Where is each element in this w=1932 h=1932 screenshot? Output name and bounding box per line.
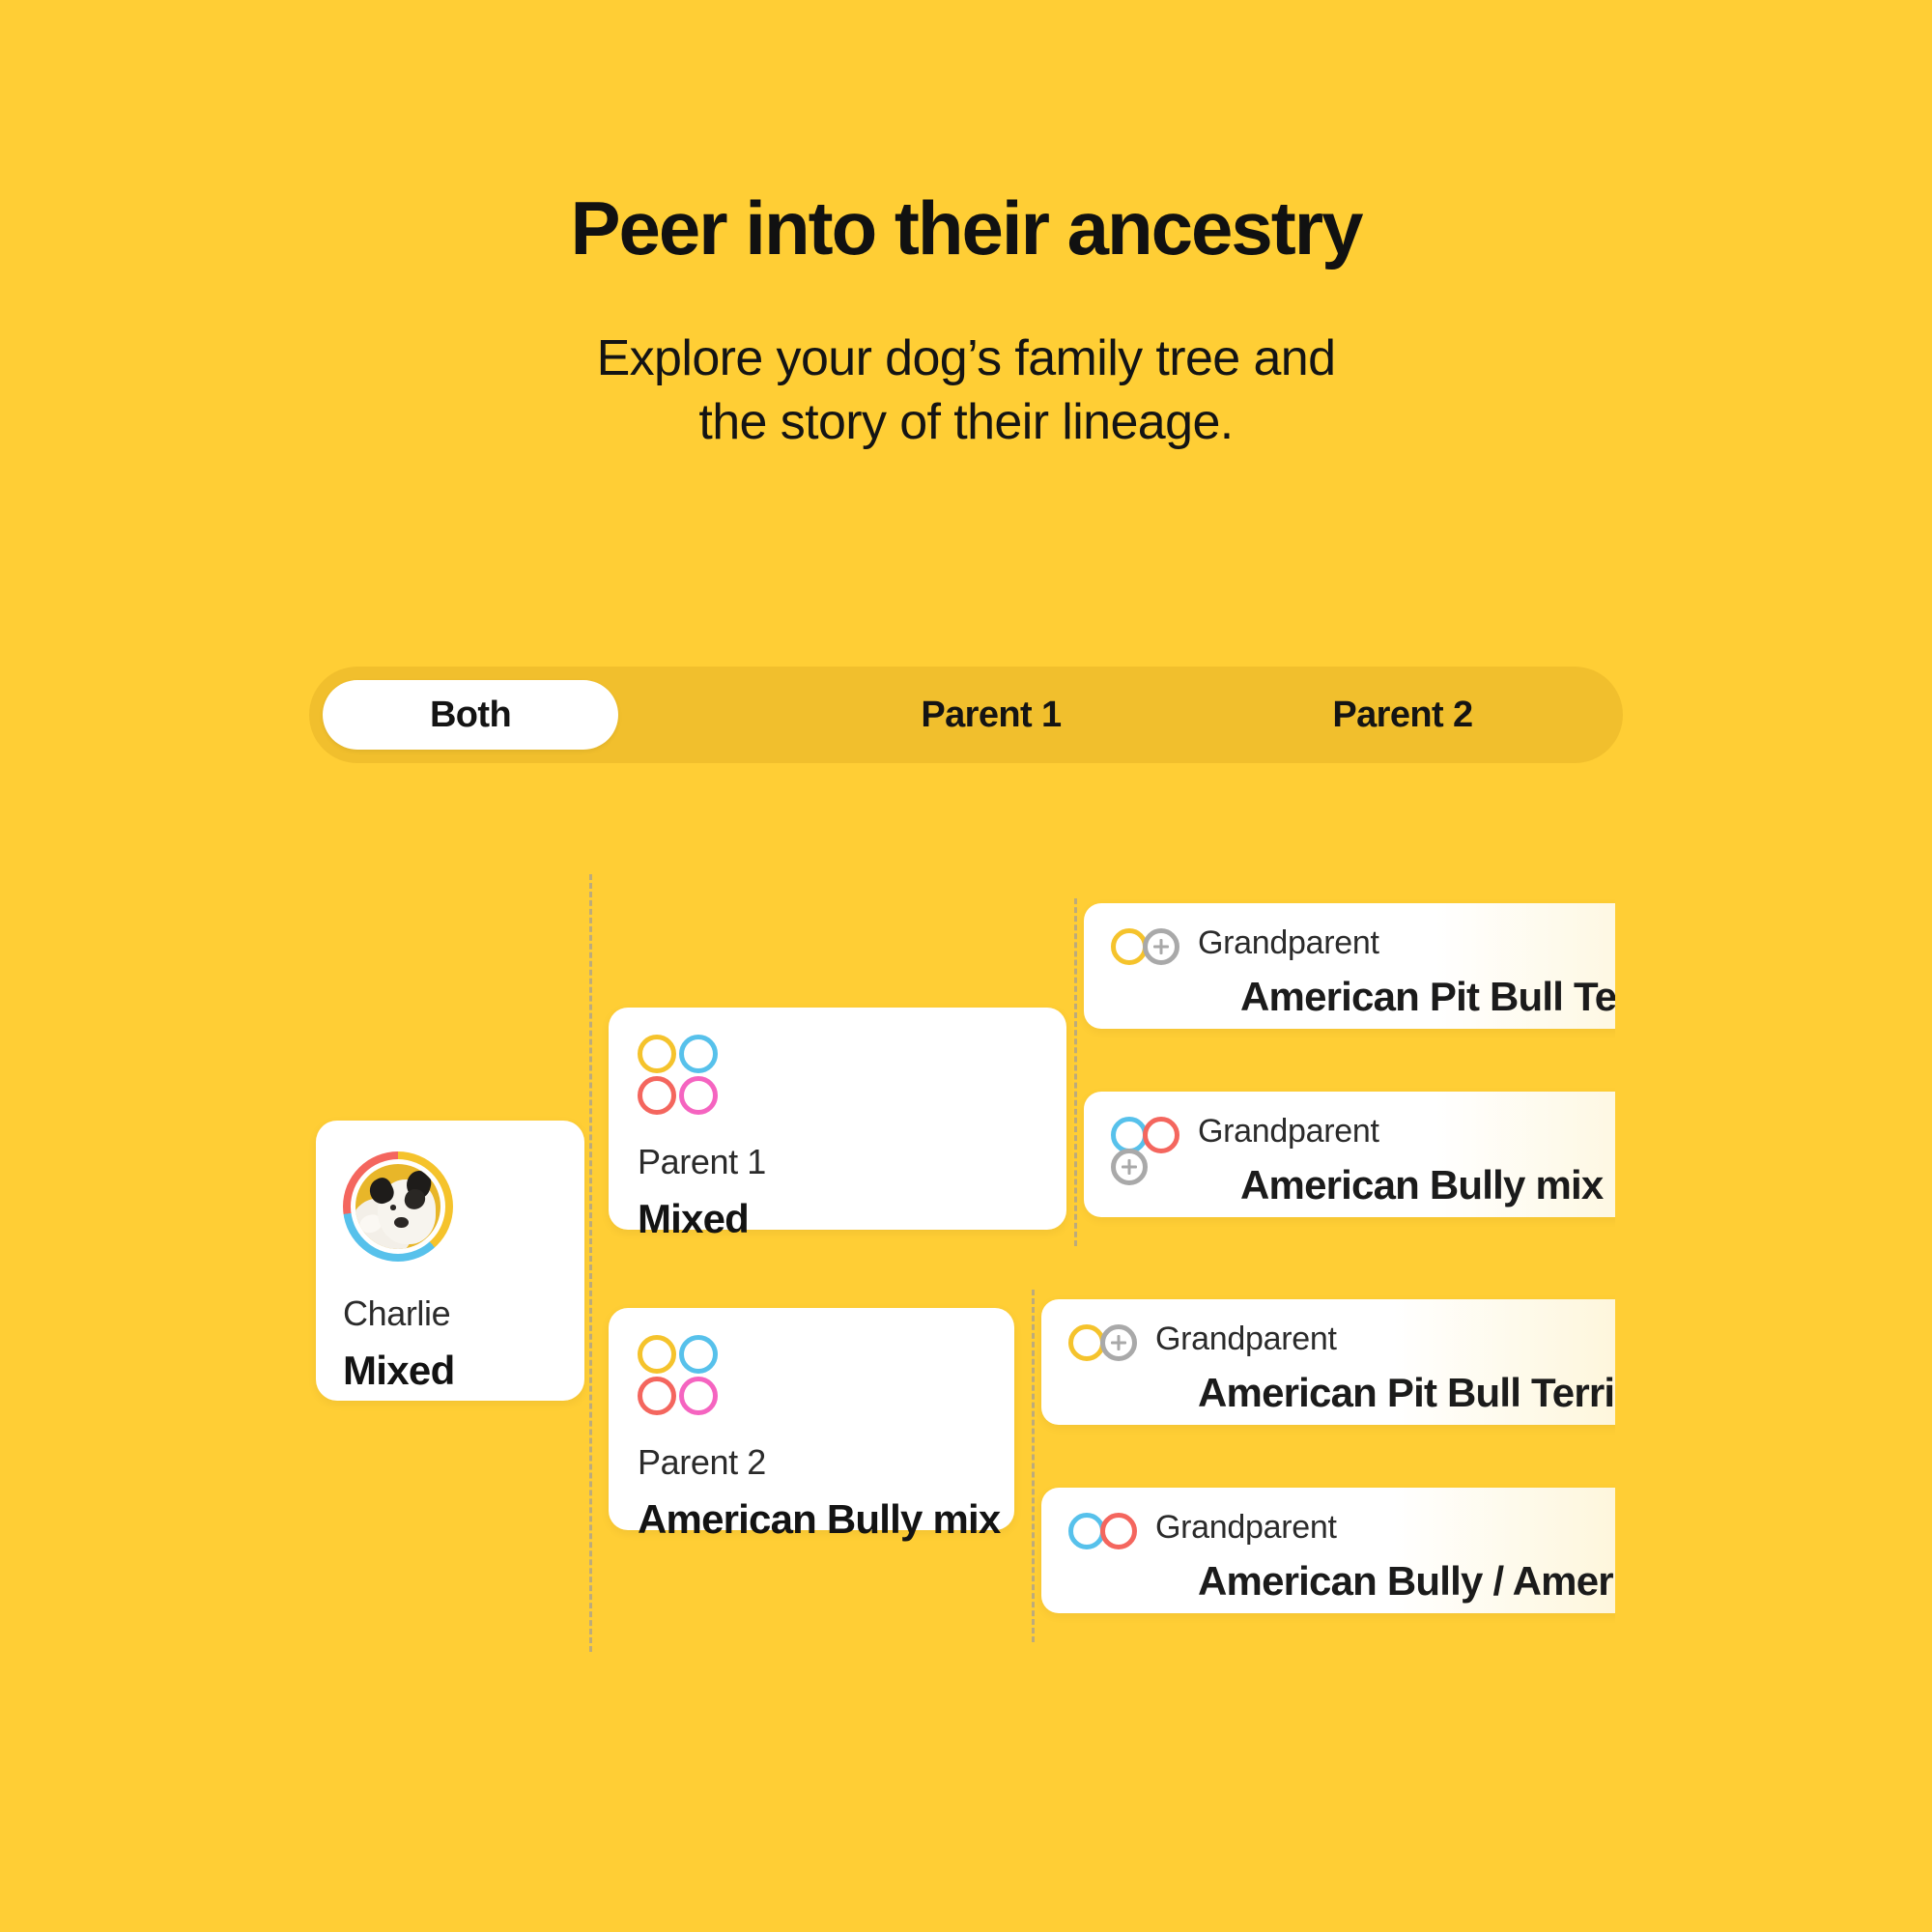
dot-red-icon	[1143, 1117, 1179, 1153]
grandparent-1-card[interactable]: Grandparent American Pit Bull Terrier	[1084, 903, 1615, 1029]
grandparent-2-label: Grandparent	[1198, 1115, 1603, 1148]
breed-dots-icon	[1111, 928, 1194, 1009]
grandparent-1-label: Grandparent	[1198, 926, 1615, 959]
dot-yellow-icon	[638, 1035, 676, 1073]
connector-line-focus-to-parents	[589, 874, 592, 1652]
dot-red-icon	[638, 1076, 676, 1115]
dot-yellow-icon	[638, 1335, 676, 1374]
focus-dog-name: Charlie	[343, 1296, 557, 1331]
breed-dots-icon	[1068, 1324, 1151, 1406]
breed-dots-icon	[638, 1335, 721, 1418]
dot-pink-icon	[679, 1377, 718, 1415]
parent-1-card[interactable]: Parent 1 Mixed	[609, 1008, 1066, 1230]
grandparent-column: Grandparent American Pit Bull Terrier Gr…	[1024, 869, 1615, 1662]
grandparent-4-card[interactable]: Grandparent American Bully / American Pi…	[1041, 1488, 1615, 1613]
grandparent-3-card[interactable]: Grandparent American Pit Bull Terrier	[1041, 1299, 1615, 1425]
plus-circle-icon	[1111, 1149, 1148, 1185]
plus-circle-icon	[1100, 1324, 1137, 1361]
focus-dog-card[interactable]: Charlie Mixed	[316, 1121, 584, 1401]
breed-dots-icon	[1111, 1117, 1194, 1198]
grandparent-3-label: Grandparent	[1155, 1322, 1615, 1355]
grandparent-2-breed: American Bully mix	[1240, 1165, 1603, 1206]
parent-2-breed: American Bully mix	[638, 1499, 985, 1540]
grandparent-4-breed: American Bully / American Pit Bull Terri…	[1198, 1561, 1615, 1602]
breed-dots-icon	[1068, 1513, 1151, 1594]
grandparent-2-card[interactable]: Grandparent American Bully mix	[1084, 1092, 1615, 1217]
grandparent-4-label: Grandparent	[1155, 1511, 1615, 1544]
parent-2-label: Parent 2	[638, 1445, 985, 1480]
dot-red-icon	[638, 1377, 676, 1415]
family-tree: Charlie Mixed Parent 1 Mixed Parent 2 Am…	[0, 0, 1932, 1932]
dot-red-icon	[1100, 1513, 1137, 1549]
dot-blue-icon	[679, 1035, 718, 1073]
parent-1-label: Parent 1	[638, 1145, 1037, 1179]
focus-dog-breed: Mixed	[343, 1350, 557, 1391]
parent-2-card[interactable]: Parent 2 American Bully mix	[609, 1308, 1014, 1530]
dog-photo	[355, 1164, 440, 1249]
plus-circle-icon	[1143, 928, 1179, 965]
grandparent-1-breed: American Pit Bull Terrier	[1240, 977, 1615, 1017]
dot-pink-icon	[679, 1076, 718, 1115]
parent-1-breed: Mixed	[638, 1199, 1037, 1239]
grandparent-3-breed: American Pit Bull Terrier	[1198, 1373, 1615, 1413]
breed-dots-icon	[638, 1035, 721, 1118]
avatar	[343, 1151, 453, 1262]
dot-blue-icon	[679, 1335, 718, 1374]
